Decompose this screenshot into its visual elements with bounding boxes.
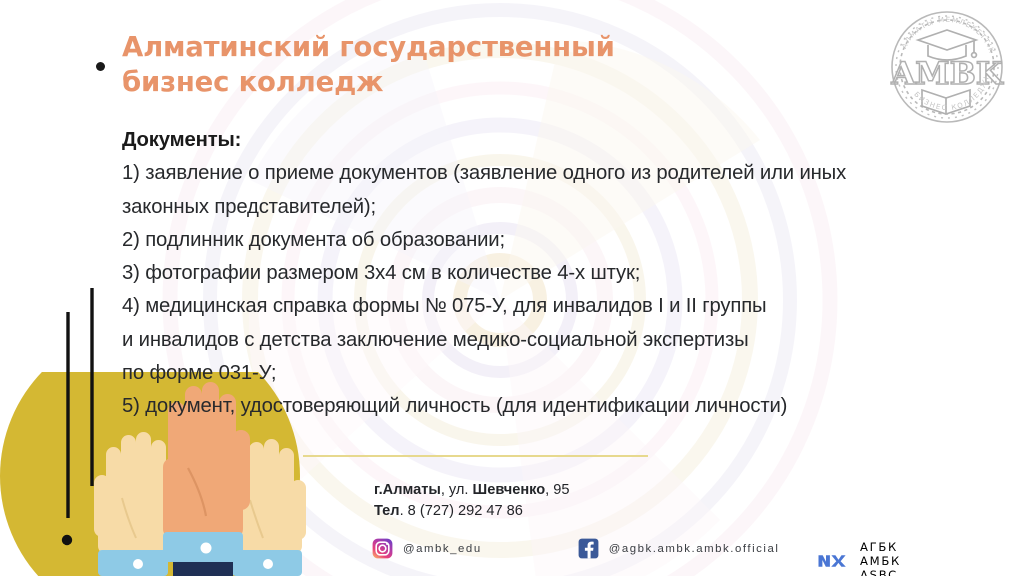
address-street-label: , ул. xyxy=(441,482,473,498)
address-line: г.Алматы, ул. Шевченко, 95 xyxy=(374,480,570,501)
decorative-lines xyxy=(0,288,140,558)
documents-line-3: 2) подлинник документа об образовании; xyxy=(122,224,1012,257)
documents-line-7: по форме 031-У; xyxy=(122,357,1012,390)
phone-value: . 8 (727) 292 47 86 xyxy=(400,503,523,519)
documents-heading: Документы: xyxy=(122,124,1012,157)
contact-block: г.Алматы, ул. Шевченко, 95 Тел. 8 (727) … xyxy=(374,480,570,521)
page-title: Алматинский государственный бизнес колле… xyxy=(122,30,742,100)
page-title-line-2: бизнес колледж xyxy=(122,65,742,100)
instagram-handle: @ambk_edu xyxy=(403,543,482,555)
address-number: , 95 xyxy=(545,482,569,498)
bullet-dot-icon xyxy=(96,62,105,71)
documents-line-5: 4) медицинская справка формы № 075-У, дл… xyxy=(122,290,1012,323)
footer-divider xyxy=(303,455,648,457)
address-street: Шевченко xyxy=(473,482,546,498)
documents-line-4: 3) фотографии размером 3х4 см в количест… xyxy=(122,257,1012,290)
social-links-row: @ambk_edu @agbk.ambk.ambk.official АГБК … xyxy=(372,538,779,559)
documents-line-8: 5) документ, удостоверяющий личность (дл… xyxy=(122,390,1012,423)
phone-label: Тел xyxy=(374,503,400,519)
documents-list: Документы: 1) заявление о приеме докумен… xyxy=(122,124,1012,424)
documents-line-6: и инвалидов с детства заключение медико-… xyxy=(122,324,1012,357)
vk-handle: АГБК АМБК ASBC xyxy=(860,540,901,576)
page-title-line-1: Алматинский государственный xyxy=(122,30,742,65)
phone-line: Тел. 8 (727) 292 47 86 xyxy=(374,501,570,522)
documents-line-1: 1) заявление о приеме документов (заявле… xyxy=(122,157,1012,190)
documents-line-2: законных представителей); xyxy=(122,191,1012,224)
facebook-handle: @agbk.ambk.ambk.official xyxy=(609,543,780,555)
instagram-icon xyxy=(372,538,393,559)
social-link-vk[interactable]: АГБК АМБК ASBC xyxy=(816,540,901,576)
ambk-college-seal-logo: AMBK АЛМАТЫ МЕМЛЕКЕТТІК БИЗНЕС КОЛЛЕДЖІ xyxy=(884,4,1010,130)
deco-dot xyxy=(62,535,72,545)
address-city: г.Алматы xyxy=(374,482,441,498)
facebook-icon xyxy=(578,538,599,559)
social-link-instagram[interactable]: @ambk_edu xyxy=(372,538,482,559)
social-link-facebook[interactable]: @agbk.ambk.ambk.official xyxy=(578,538,780,559)
vk-icon xyxy=(816,551,848,571)
